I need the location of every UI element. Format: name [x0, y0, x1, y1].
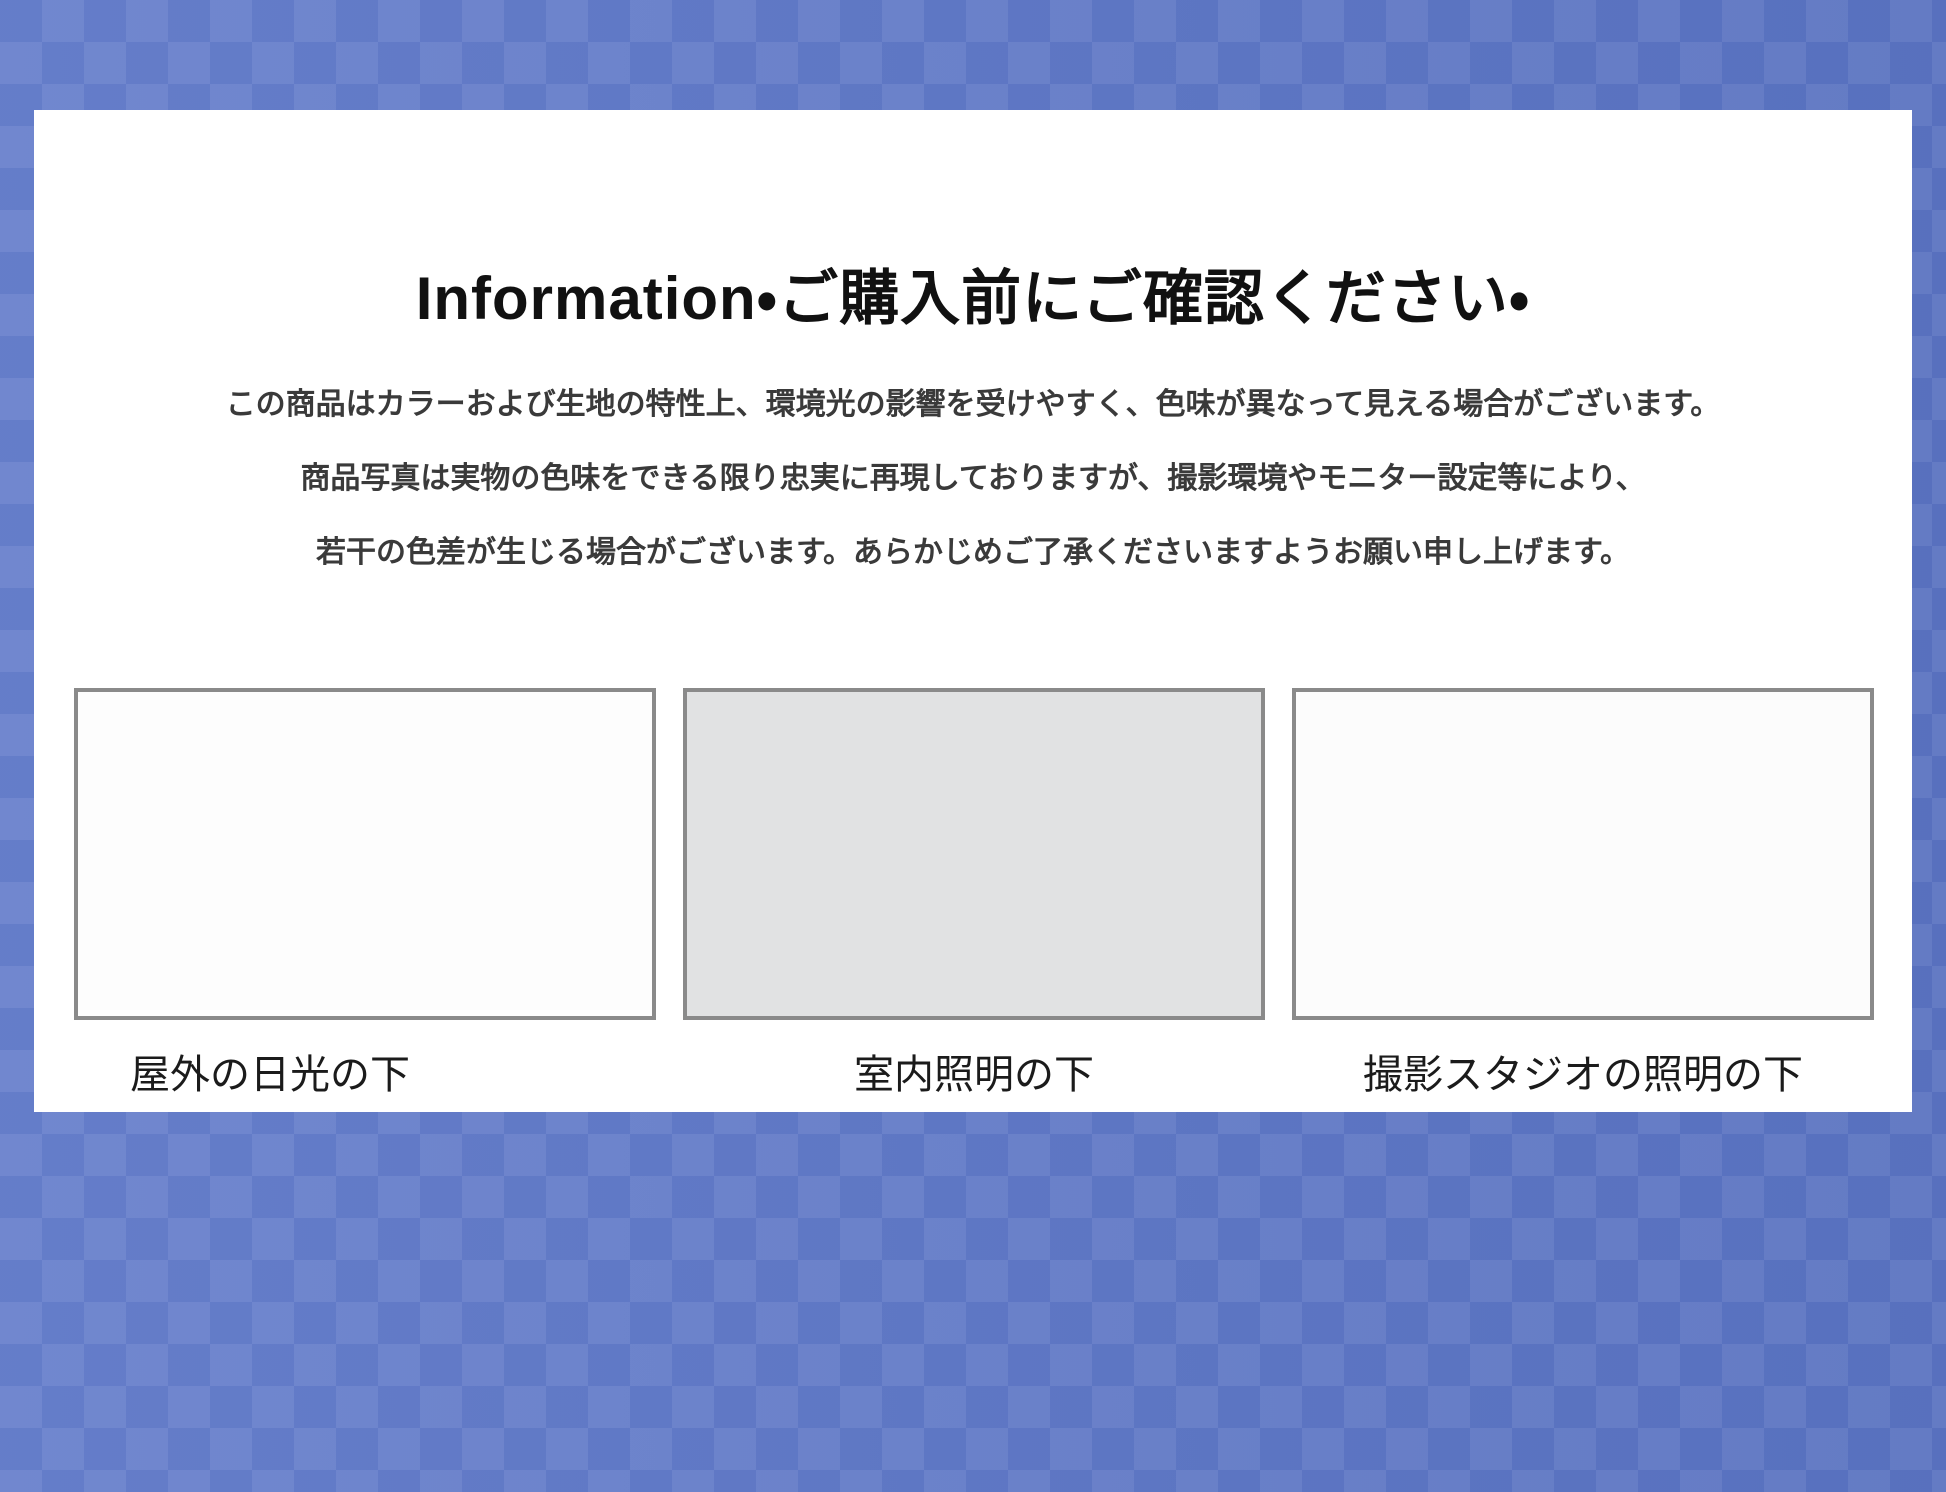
- playard-image-studio: [1296, 692, 1870, 1016]
- photo-background: [78, 692, 652, 1016]
- photo-background: [687, 692, 1261, 1016]
- photo-frame-outdoor[interactable]: [74, 688, 656, 1020]
- photo-caption-studio: 撮影スタジオの照明の下: [1292, 1042, 1874, 1100]
- photo-cell-studio: 撮影スタジオの照明の下: [1292, 688, 1874, 1100]
- photo-frame-studio[interactable]: [1292, 688, 1874, 1020]
- playard-image-outdoor: [78, 692, 652, 1016]
- notice-line-2: 商品写真は実物の色味をできる限り忠実に再現しておりますが、撮影環境やモニター設定…: [34, 442, 1912, 516]
- photo-caption-indoor: 室内照明の下: [683, 1042, 1265, 1100]
- photo-cell-indoor: 室内照明の下: [683, 688, 1265, 1100]
- photo-frame-indoor[interactable]: [683, 688, 1265, 1020]
- comparison-photo-row: 屋外の日光の下: [74, 688, 1874, 1100]
- page-title: Information・ご購入前にご確認ください・: [34, 250, 1912, 337]
- information-card: Information・ご購入前にご確認ください・ この商品はカラーおよび生地の…: [34, 110, 1912, 1112]
- photo-cell-outdoor: 屋外の日光の下: [74, 688, 656, 1100]
- notice-paragraph: この商品はカラーおよび生地の特性上、環境光の影響を受けやすく、色味が異なって見え…: [34, 368, 1912, 590]
- photo-caption-outdoor: 屋外の日光の下: [74, 1042, 656, 1100]
- notice-line-3: 若干の色差が生じる場合がございます。あらかじめご了承くださいますようお願い申し上…: [34, 516, 1912, 590]
- notice-line-1: この商品はカラーおよび生地の特性上、環境光の影響を受けやすく、色味が異なって見え…: [34, 368, 1912, 442]
- photo-background: [1296, 692, 1870, 1016]
- playard-image-indoor: [687, 692, 1261, 1016]
